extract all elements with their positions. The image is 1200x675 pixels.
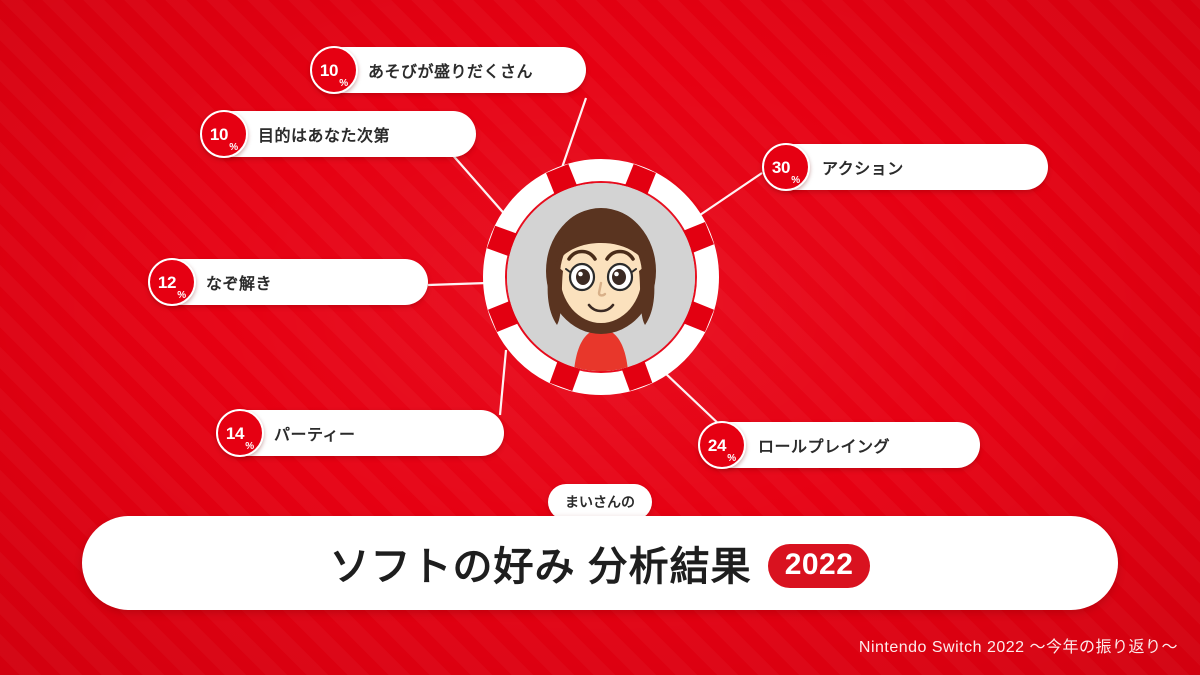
percent-value: 12 [158, 274, 176, 291]
category-label-rpg: ロールプレイング [758, 433, 890, 457]
category-label-mokuteki: 目的はあなた次第 [258, 122, 390, 146]
page-title-main: ソフトの好み 分析結果 [330, 545, 752, 589]
percent-sign: % [229, 143, 238, 153]
percent-value: 10 [320, 62, 338, 79]
category-pill-nazotoki[interactable]: 12 % なぞ解き [158, 259, 428, 305]
percent-badge-action: 30 % [762, 143, 810, 191]
percent-sign: % [727, 454, 736, 464]
percent-sign: % [177, 291, 186, 301]
percent-badge-rpg: 24 % [698, 421, 746, 469]
category-pill-action[interactable]: 30 % アクション [772, 144, 1048, 190]
title-bar: ソフトの好み 分析結果2022 [82, 516, 1118, 610]
avatar-ring-group [481, 157, 721, 397]
footer-caption: Nintendo Switch 2022 〜今年の振り返り〜 [859, 633, 1178, 657]
percent-badge-asobi: 10 % [310, 46, 358, 94]
page-title: ソフトの好み 分析結果2022 [330, 534, 871, 592]
category-pill-mokuteki[interactable]: 10 % 目的はあなた次第 [210, 111, 476, 157]
percent-badge-mokuteki: 10 % [200, 110, 248, 158]
avatar [507, 183, 695, 371]
category-label-asobi: あそびが盛りだくさん [368, 58, 533, 82]
mii-avatar-icon [507, 183, 695, 371]
infographic-canvas: 10 % あそびが盛りだくさん 10 % 目的はあなた次第 12 % なぞ解き … [0, 0, 1200, 675]
percent-sign: % [791, 176, 800, 186]
percent-value: 10 [210, 126, 228, 143]
percent-value: 14 [226, 425, 244, 442]
category-label-nazotoki: なぞ解き [206, 270, 272, 294]
percent-sign: % [245, 442, 254, 452]
percent-value: 24 [708, 437, 726, 454]
connector-line-nazotoki [428, 283, 487, 285]
percent-sign: % [339, 79, 348, 89]
percent-value: 30 [772, 159, 790, 176]
speech-bubble: まいさんの [548, 484, 652, 520]
category-label-party: パーティー [274, 421, 356, 445]
percent-badge-party: 14 % [216, 409, 264, 457]
category-pill-party[interactable]: 14 % パーティー [226, 410, 504, 456]
percent-badge-nazotoki: 12 % [148, 258, 196, 306]
year-badge: 2022 [768, 544, 871, 588]
category-pill-asobi[interactable]: 10 % あそびが盛りだくさん [320, 47, 586, 93]
category-pill-rpg[interactable]: 24 % ロールプレイング [708, 422, 980, 468]
speech-bubble-text: まいさんの [565, 492, 635, 512]
category-label-action: アクション [822, 155, 904, 179]
